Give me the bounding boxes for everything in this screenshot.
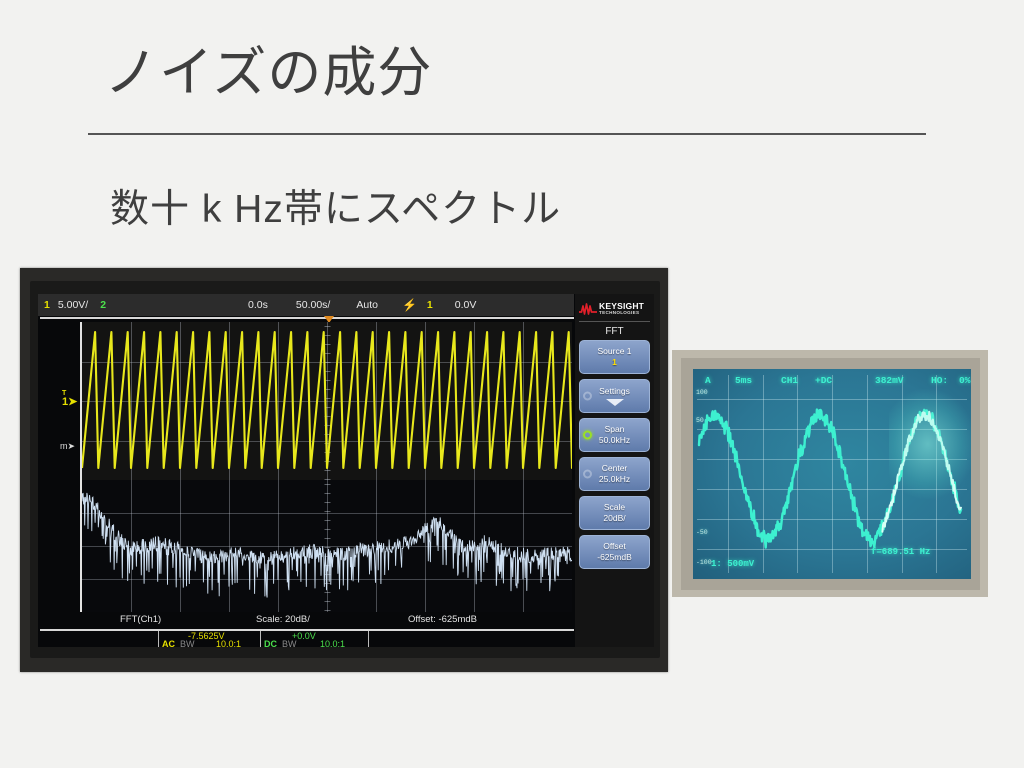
slide-subtitle: 数十 k Hz帯にスペクトル: [110, 178, 561, 234]
page-title: ノイズの成分: [104, 44, 432, 102]
title-divider: [88, 133, 926, 135]
scope1-waveform-plot: [82, 322, 572, 480]
ch2-probe-ratio: 10.0:1: [320, 639, 345, 647]
chevron-down-icon: [606, 399, 624, 406]
softkey-value: -625mdB: [597, 552, 632, 563]
scope1-softkey-menu: KEYSIGHT TECHNOLOGIES FFT Source 11Setti…: [575, 294, 654, 647]
fft-scale-label: Scale: 20dB/: [256, 614, 310, 625]
scope1-bezel: 1 5.00V/ 2 0.0s 50.00s/ Auto ⚡ 1 0.0V T1…: [30, 281, 660, 658]
ch1-coupling: AC: [162, 639, 175, 647]
scope1-channel-bar: -7.5625V AC BW 10.0:1 +0.0V DC BW 10.0:1: [38, 631, 574, 647]
fft-reference-marker-icon: m➤: [60, 442, 75, 451]
chanbar-divider-1: [158, 631, 159, 647]
delay-value: 0.0s: [248, 299, 268, 311]
waveform-svg: [82, 322, 572, 480]
softkey-label: Source 1: [597, 346, 631, 357]
scope1-topbar-rule: [40, 317, 574, 319]
softkey-label: Span: [605, 424, 625, 435]
keysight-logo: KEYSIGHT TECHNOLOGIES: [579, 296, 650, 322]
acquisition-mode: Auto: [356, 299, 378, 311]
trigger-level: 0.0V: [455, 299, 477, 311]
softkey-offset[interactable]: Offset-625mdB: [579, 535, 650, 569]
scope1-status-bar: 1 5.00V/ 2 0.0s 50.00s/ Auto ⚡ 1 0.0V: [38, 294, 574, 316]
softkey-source-1[interactable]: Source 11: [579, 340, 650, 374]
ch1-ground-marker-icon: T1➤: [62, 390, 77, 408]
scope2-bezel: 10050-50-100 A 5ms CH1 +DC 382mV HO: 0% …: [681, 358, 980, 590]
softkey-span[interactable]: Span50.0kHz: [579, 418, 650, 452]
softkey-label: Offset: [603, 541, 626, 552]
trigger-bolt-icon: ⚡: [402, 298, 417, 312]
softkey-value: 50.0kHz: [599, 435, 630, 446]
fft-offset-label: Offset: -625mdB: [408, 614, 477, 625]
chanbar-divider-2: [260, 631, 261, 647]
ch1-number: 1: [44, 299, 50, 311]
softkey-knob-icon[interactable]: [583, 431, 592, 440]
chanbar-divider-3: [368, 631, 369, 647]
softkey-knob-icon[interactable]: [583, 470, 592, 479]
keysight-sub: TECHNOLOGIES: [599, 311, 644, 316]
softkey-label: Center: [602, 463, 628, 474]
slide-canvas: ノイズの成分 数十 k Hz帯にスペクトル 1 5.00V/ 2 0.0s 50…: [0, 0, 1024, 768]
ch2-number: 2: [100, 299, 106, 311]
scope1-screen: 1 5.00V/ 2 0.0s 50.00s/ Auto ⚡ 1 0.0V T1…: [38, 294, 654, 647]
scope2-frequency-readout: f=689.51 Hz: [871, 547, 930, 557]
softkey-label: Settings: [599, 386, 630, 397]
scope1-fft-plot: [82, 480, 572, 612]
scope2-bottom-bar: 1: 500mV f=689.51 Hz: [693, 547, 971, 573]
ch1-probe-ratio: 10.0:1: [216, 639, 241, 647]
ch2-coupling: DC: [264, 639, 277, 647]
math-function-label: FFT(Ch1): [120, 614, 161, 625]
softkey-settings[interactable]: Settings: [579, 379, 650, 413]
menu-title-fft: FFT: [579, 322, 650, 340]
analog-oscilloscope-photo: 10050-50-100 A 5ms CH1 +DC 382mV HO: 0% …: [672, 350, 988, 597]
keysight-wave-icon: [579, 303, 597, 315]
ch1-scale: 5.00V/: [58, 299, 88, 311]
softkey-value: 1: [612, 357, 617, 368]
scope2-channel-scale: 1: 500mV: [711, 559, 754, 569]
ch2-bandwidth: BW: [282, 639, 297, 647]
ch1-bandwidth: BW: [180, 639, 195, 647]
softkey-list: Source 11SettingsSpan50.0kHzCenter25.0kH…: [579, 340, 650, 569]
softkey-knob-icon[interactable]: [583, 392, 592, 401]
keysight-wordmark: KEYSIGHT TECHNOLOGIES: [599, 302, 644, 315]
softkey-value: 20dB/: [603, 513, 625, 524]
softkey-center[interactable]: Center25.0kHz: [579, 457, 650, 491]
fft-svg: [82, 480, 572, 612]
keysight-oscilloscope-photo: 1 5.00V/ 2 0.0s 50.00s/ Auto ⚡ 1 0.0V T1…: [20, 268, 668, 672]
timebase-value: 50.00s/: [296, 299, 330, 311]
softkey-scale[interactable]: Scale20dB/: [579, 496, 650, 530]
softkey-value: 25.0kHz: [599, 474, 630, 485]
softkey-label: Scale: [604, 502, 625, 513]
scope1-math-info-bar: FFT(Ch1) Scale: 20dB/ Offset: -625mdB: [38, 614, 574, 629]
scope2-screen: 10050-50-100 A 5ms CH1 +DC 382mV HO: 0% …: [693, 369, 971, 579]
trigger-source: 1: [427, 299, 433, 311]
